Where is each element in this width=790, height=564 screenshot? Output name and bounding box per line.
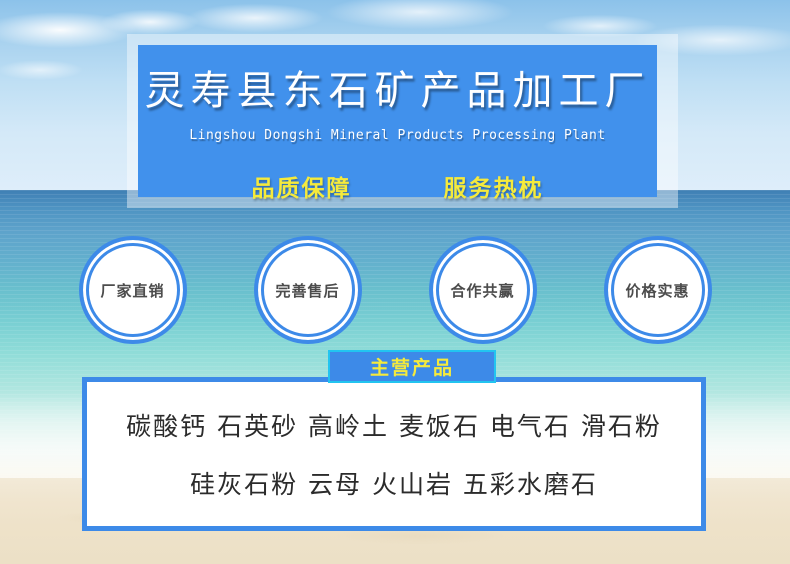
feature-label: 完善售后 <box>275 280 339 301</box>
product-line: 碳酸钙 石英砂 高岭土 麦饭石 电气石 滑石粉 <box>126 407 662 443</box>
feature-circle-cooperation: 合作共赢 <box>429 236 537 344</box>
feature-label: 合作共赢 <box>450 280 514 301</box>
product-line: 硅灰石粉 云母 火山岩 五彩水磨石 <box>190 465 598 501</box>
tagline-quality: 品质保障 <box>252 169 352 203</box>
feature-circle-row: 厂家直销 完善售后 合作共赢 价格实惠 <box>0 238 790 342</box>
promo-banner-image: 灵寿县东石矿产品加工厂 Lingshou Dongshi Mineral Pro… <box>0 0 790 564</box>
feature-circle-pricing: 价格实惠 <box>604 236 712 344</box>
feature-label: 价格实惠 <box>625 280 689 301</box>
feature-circle-direct-sales: 厂家直销 <box>79 236 187 344</box>
products-list-inner: 碳酸钙 石英砂 高岭土 麦饭石 电气石 滑石粉 硅灰石粉 云母 火山岩 五彩水磨… <box>87 382 701 526</box>
feature-circle-after-sales: 完善售后 <box>254 236 362 344</box>
feature-label: 厂家直销 <box>100 280 164 301</box>
products-heading-label: 主营产品 <box>370 353 454 380</box>
tagline-row: 品质保障 服务热枕 <box>138 170 657 202</box>
company-title: 灵寿县东石矿产品加工厂 <box>138 64 657 118</box>
company-title-english: Lingshou Dongshi Mineral Products Proces… <box>138 126 657 146</box>
products-heading-box: 主营产品 <box>328 350 496 383</box>
products-list-box: 碳酸钙 石英砂 高岭土 麦饭石 电气石 滑石粉 硅灰石粉 云母 火山岩 五彩水磨… <box>82 377 706 531</box>
tagline-service: 服务热枕 <box>444 169 544 203</box>
